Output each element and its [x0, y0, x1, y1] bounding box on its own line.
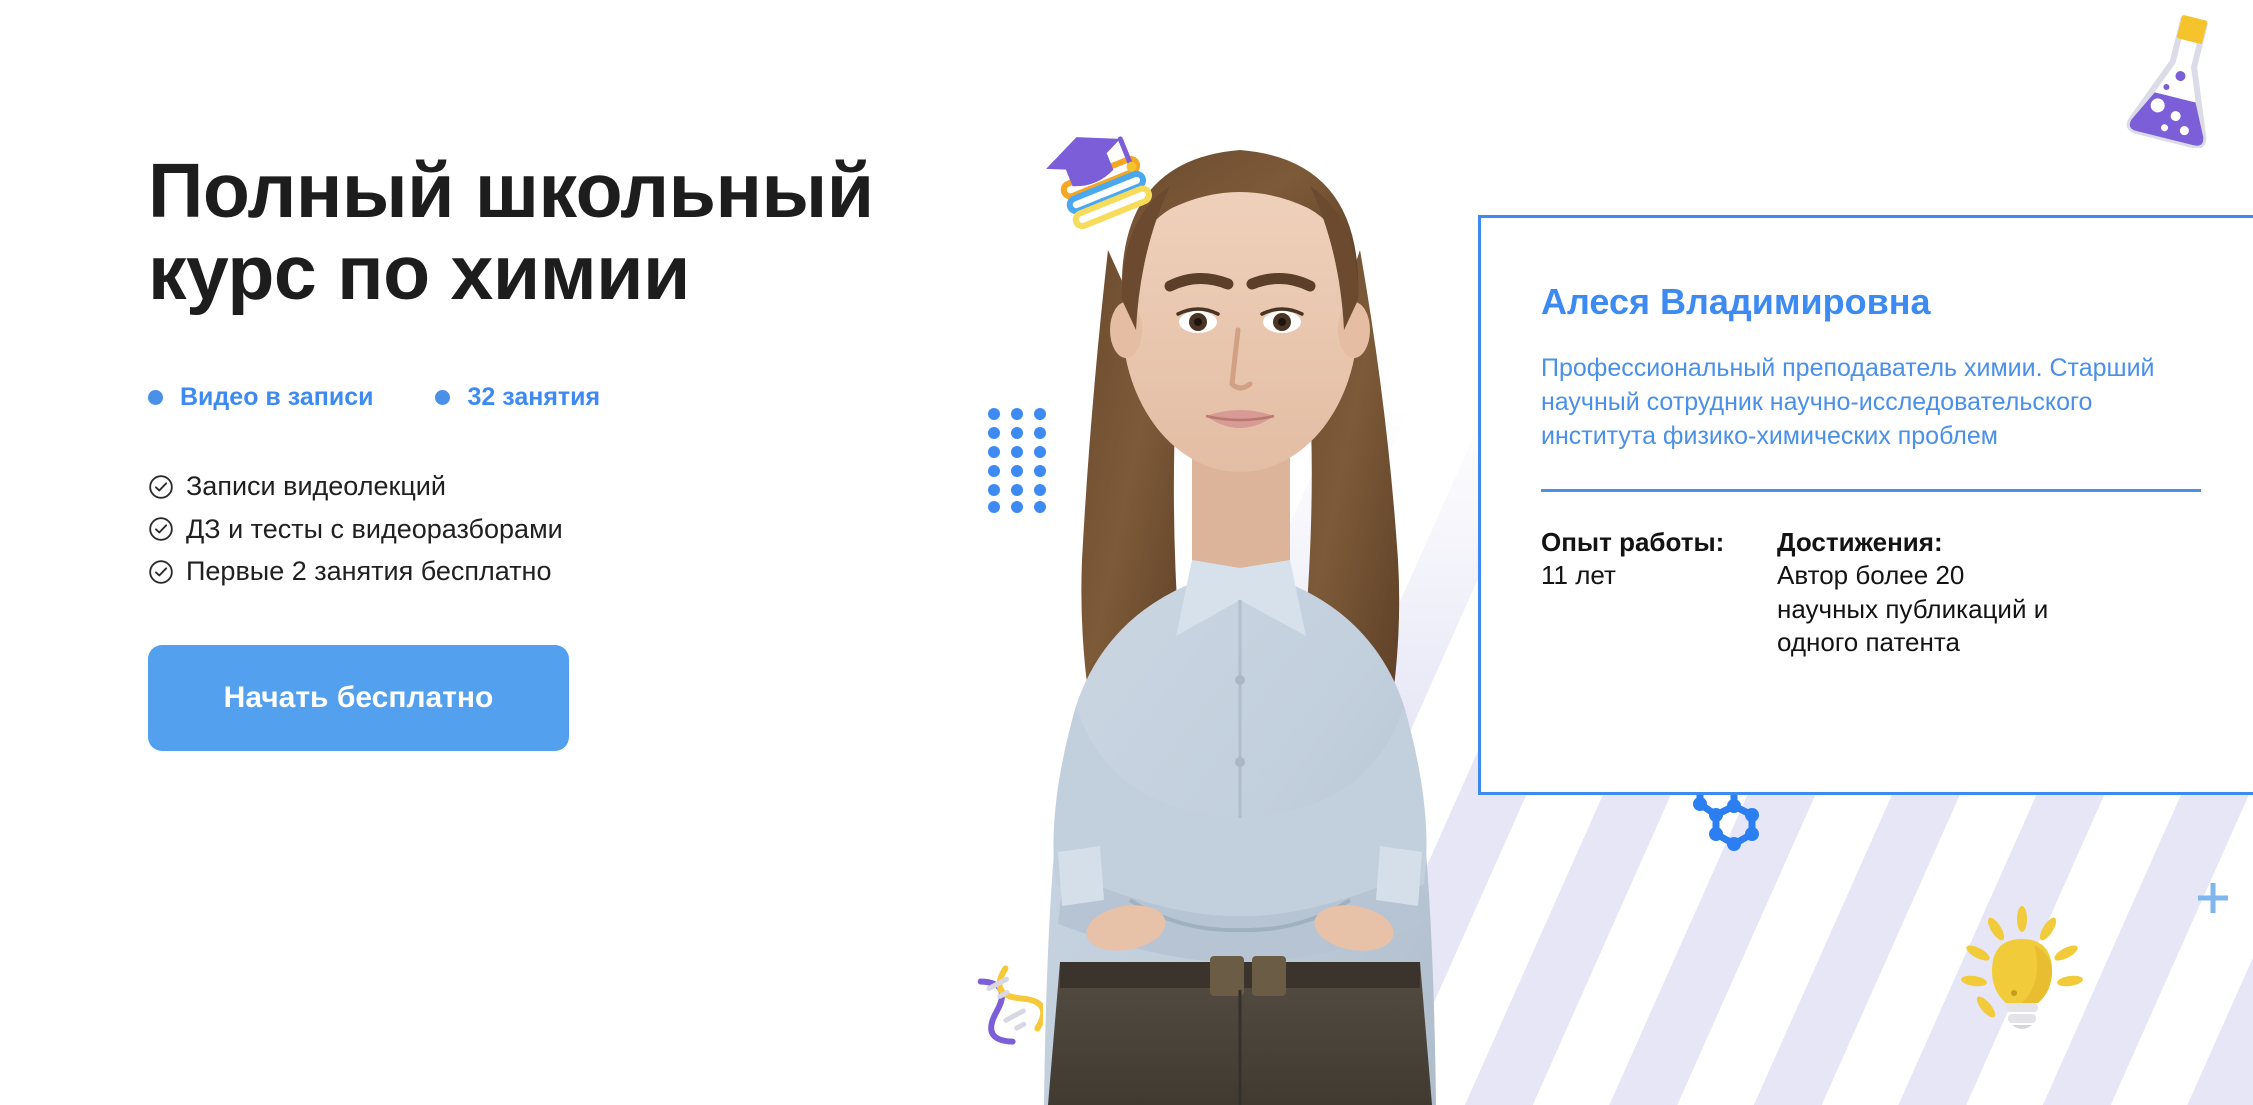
achievements-value: Автор более 20 научных публикаций и одно… [1777, 559, 2067, 659]
teacher-bio: Профессиональный преподаватель химии. Ст… [1541, 351, 2211, 453]
check-circle-icon [148, 516, 174, 542]
list-item: Записи видеолекций [148, 470, 938, 504]
list-item: Первые 2 занятия бесплатно [148, 555, 938, 589]
feature-label: ДЗ и тесты с видеоразборами [186, 513, 563, 547]
teacher-stats: Опыт работы: 11 лет Достижения: Автор бо… [1541, 526, 2253, 659]
hero-tag-row: Видео в записи 32 занятия [148, 383, 938, 412]
start-free-button[interactable]: Начать бесплатно [148, 645, 569, 751]
check-circle-icon [148, 474, 174, 500]
hero-tag-video: Видео в записи [148, 383, 373, 412]
check-circle-icon [148, 559, 174, 585]
graduation-cap-books-icon [1030, 115, 1160, 230]
hero-section: Полный школьный курс по химии Видео в за… [0, 0, 2253, 1105]
achievements-block: Достижения: Автор более 20 научных публи… [1777, 526, 2067, 659]
hero-tag-lessons: 32 занятия [435, 383, 600, 412]
experience-label: Опыт работы: [1541, 526, 1737, 559]
experience-block: Опыт работы: 11 лет [1541, 526, 1737, 659]
hero-tag-label: 32 занятия [467, 383, 600, 412]
dot-grid-icon [988, 408, 1046, 513]
teacher-name: Алеся Владимировна [1541, 280, 2253, 323]
card-divider [1541, 489, 2201, 492]
plus-icon [2195, 880, 2231, 916]
experience-value: 11 лет [1541, 559, 1737, 592]
hero-content-column: Полный школьный курс по химии Видео в за… [148, 150, 938, 751]
hero-tag-label: Видео в записи [180, 383, 373, 412]
page-title: Полный школьный курс по химии [148, 150, 938, 315]
feature-list: Записи видеолекций ДЗ и тесты с видеораз… [148, 470, 938, 589]
chemistry-flask-icon [2125, 8, 2235, 148]
bullet-dot-icon [435, 390, 450, 405]
achievements-label: Достижения: [1777, 526, 2067, 559]
dna-helix-icon [975, 965, 1043, 1045]
feature-label: Записи видеолекций [186, 470, 446, 504]
bullet-dot-icon [148, 390, 163, 405]
feature-label: Первые 2 занятия бесплатно [186, 555, 552, 589]
teacher-info-card: Алеся Владимировна Профессиональный преп… [1478, 215, 2253, 795]
list-item: ДЗ и тесты с видеоразборами [148, 513, 938, 547]
lightbulb-icon [1952, 905, 2092, 1040]
